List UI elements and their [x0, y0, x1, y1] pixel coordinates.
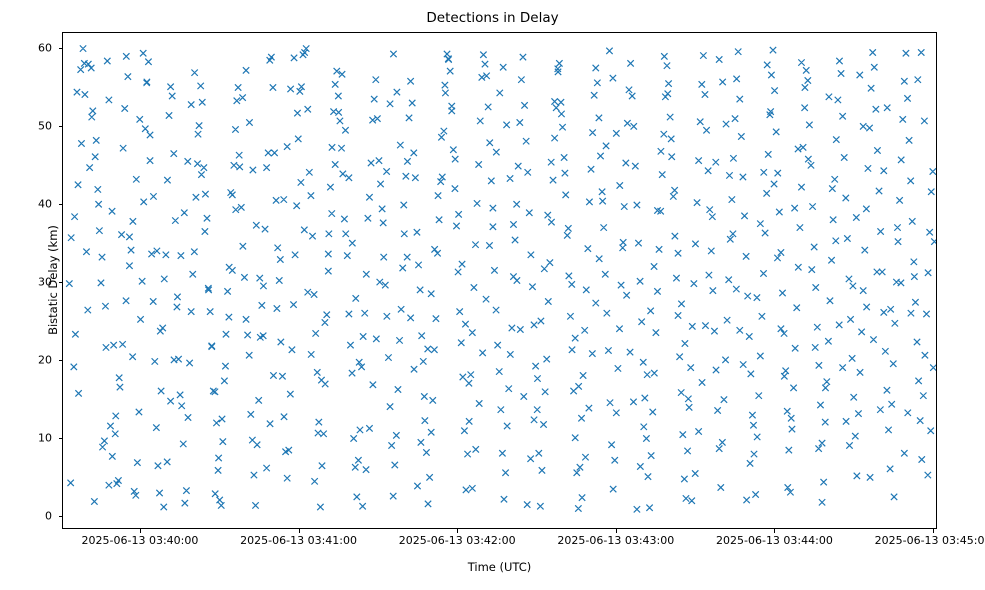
y-tick — [59, 48, 63, 49]
x-tick — [774, 529, 775, 533]
x-tick-label: 2025-06-13 03:43:00 — [557, 534, 674, 547]
x-tick — [140, 529, 141, 533]
y-tick-label: 0 — [45, 510, 52, 523]
y-tick — [59, 204, 63, 205]
y-tick-label: 40 — [38, 197, 52, 210]
x-tick-label: 2025-06-13 03:44:00 — [716, 534, 833, 547]
y-tick-label: 50 — [38, 119, 52, 132]
y-tick — [59, 438, 63, 439]
scatter-plot-axes — [62, 32, 937, 529]
y-tick — [59, 516, 63, 517]
y-tick — [59, 282, 63, 283]
y-tick-label: 60 — [38, 41, 52, 54]
figure: Detections in Delay Time (UTC) Bistatic … — [0, 0, 985, 590]
x-tick-label: 2025-06-13 03:41:00 — [240, 534, 357, 547]
x-tick-label: 2025-06-13 03:40:00 — [82, 534, 199, 547]
scatter-points — [63, 33, 936, 528]
x-tick-label: 2025-06-13 03:42:00 — [399, 534, 516, 547]
y-tick-label: 10 — [38, 432, 52, 445]
y-tick — [59, 126, 63, 127]
x-tick — [299, 529, 300, 533]
x-axis-label: Time (UTC) — [62, 560, 937, 574]
x-tick — [933, 529, 934, 533]
y-tick — [59, 360, 63, 361]
y-tick-label: 30 — [38, 276, 52, 289]
x-tick-label: 2025-06-13 03:45:00 — [875, 534, 985, 547]
y-tick-label: 20 — [38, 354, 52, 367]
x-tick — [616, 529, 617, 533]
x-tick — [457, 529, 458, 533]
page-title: Detections in Delay — [0, 10, 985, 26]
